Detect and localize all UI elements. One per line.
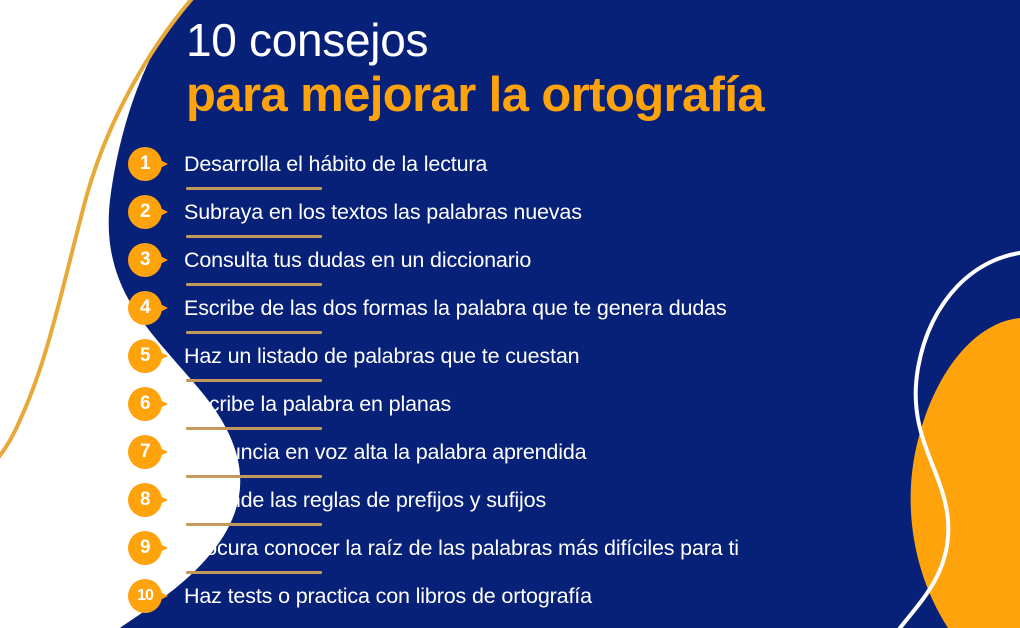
tip-number-marker-icon: 10 (128, 579, 164, 613)
tip-number-marker-icon: 4 (128, 291, 164, 325)
tip-number-marker-icon: 2 (128, 195, 164, 229)
tip-number-marker-icon: 9 (128, 531, 164, 565)
list-item[interactable]: 10Haz tests o practica con libros de ort… (128, 572, 988, 620)
tip-number-marker-icon: 5 (128, 339, 164, 373)
tip-number: 10 (128, 579, 162, 613)
title-line-two: para mejorar la ortografía (186, 68, 986, 123)
tip-text: Desarrolla el hábito de la lectura (184, 152, 487, 177)
list-item[interactable]: 1Desarrolla el hábito de la lectura (128, 140, 988, 188)
tip-text: Escribe la palabra en planas (184, 392, 451, 417)
tip-number: 5 (128, 339, 162, 373)
tip-number-marker-icon: 1 (128, 147, 164, 181)
tips-list: 1Desarrolla el hábito de la lectura2Subr… (128, 140, 988, 620)
tip-text: Pronuncia en voz alta la palabra aprendi… (184, 440, 586, 465)
tip-number-marker-icon: 8 (128, 483, 164, 517)
tip-text: Haz un listado de palabras que te cuesta… (184, 344, 579, 369)
list-item[interactable]: 6Escribe la palabra en planas (128, 380, 988, 428)
tip-text: Consulta tus dudas en un diccionario (184, 248, 531, 273)
page-title: 10 consejos para mejorar la ortografía (186, 16, 986, 123)
tip-number: 4 (128, 291, 162, 325)
list-item[interactable]: 3Consulta tus dudas en un diccionario (128, 236, 988, 284)
list-item[interactable]: 5Haz un listado de palabras que te cuest… (128, 332, 988, 380)
list-item[interactable]: 8Aprende las reglas de prefijos y sufijo… (128, 476, 988, 524)
tip-text: Procura conocer la raíz de las palabras … (184, 536, 739, 561)
list-item[interactable]: 9Procura conocer la raíz de las palabras… (128, 524, 988, 572)
title-line-one: 10 consejos (186, 16, 986, 66)
tip-text: Aprende las reglas de prefijos y sufijos (184, 488, 546, 513)
list-item[interactable]: 2Subraya en los textos las palabras nuev… (128, 188, 988, 236)
tip-text: Haz tests o practica con libros de ortog… (184, 584, 592, 609)
tip-text: Subraya en los textos las palabras nueva… (184, 200, 582, 225)
tip-number: 1 (128, 147, 162, 181)
tip-number: 2 (128, 195, 162, 229)
tip-text: Escribe de las dos formas la palabra que… (184, 296, 727, 321)
tip-number-marker-icon: 3 (128, 243, 164, 277)
tip-number: 6 (128, 387, 162, 421)
infographic-poster: 10 consejos para mejorar la ortografía 1… (0, 0, 1020, 628)
tip-number-marker-icon: 6 (128, 387, 164, 421)
list-item[interactable]: 4Escribe de las dos formas la palabra qu… (128, 284, 988, 332)
tip-number: 3 (128, 243, 162, 277)
list-item[interactable]: 7Pronuncia en voz alta la palabra aprend… (128, 428, 988, 476)
tip-number-marker-icon: 7 (128, 435, 164, 469)
tip-number: 7 (128, 435, 162, 469)
poster-content: 10 consejos para mejorar la ortografía 1… (0, 0, 1020, 628)
tip-number: 8 (128, 483, 162, 517)
tip-number: 9 (128, 531, 162, 565)
